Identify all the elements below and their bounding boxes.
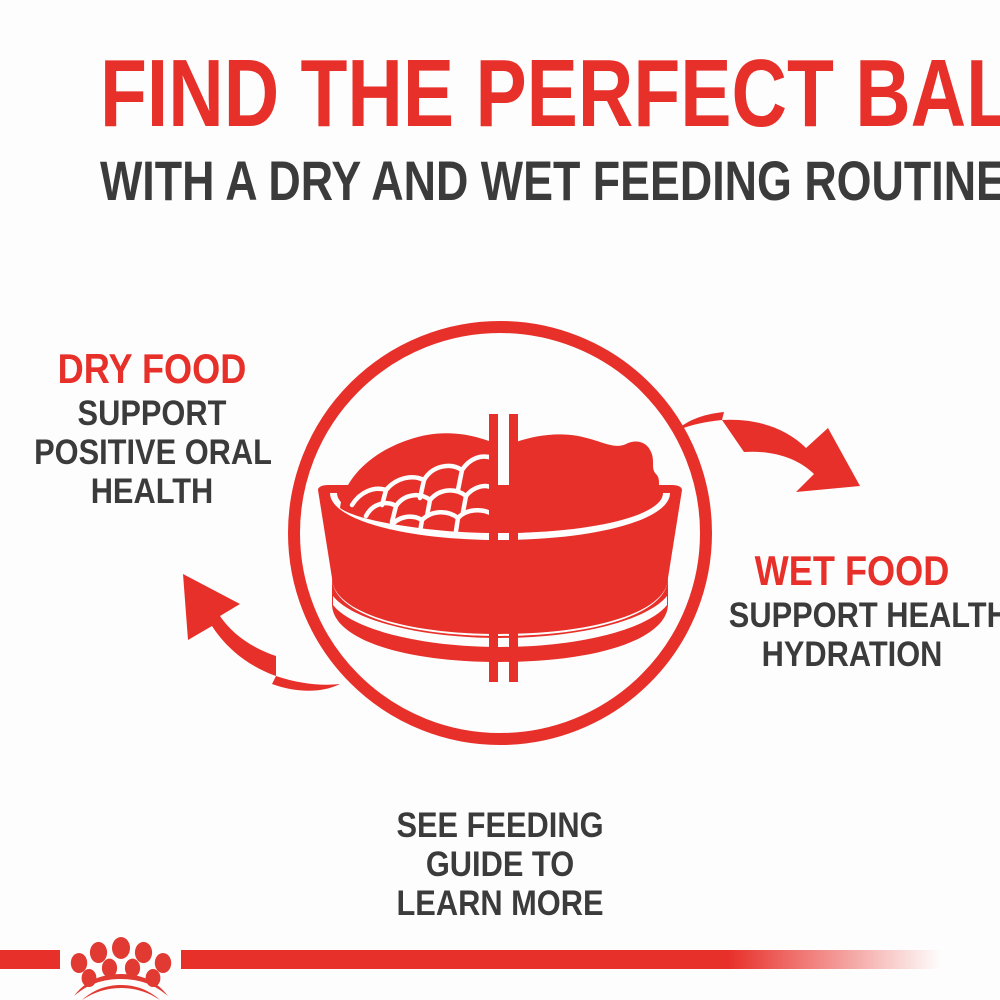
- wet-food-mound: [516, 434, 662, 533]
- wet-food-description: SUPPORT HEALTHY HYDRATION: [729, 596, 975, 674]
- poster-canvas: FIND THE PERFECT BALANCE WITH A DRY AND …: [0, 0, 1000, 1000]
- page-subtitle: WITH A DRY AND WET FEEDING ROUTINE: [100, 152, 900, 210]
- dry-food-label-block: DRY FOOD SUPPORT POSITIVE ORAL HEALTH: [18, 346, 286, 511]
- footer-rule-left: [0, 950, 60, 969]
- wet-food-label-block: WET FOOD SUPPORT HEALTHY HYDRATION: [712, 548, 992, 674]
- wet-food-line-1: SUPPORT HEALTHY: [729, 596, 975, 635]
- footer: [0, 918, 1000, 1000]
- wet-food-line-2: HYDRATION: [729, 635, 975, 674]
- bowl-vertical-divider: [489, 414, 518, 682]
- page-title: FIND THE PERFECT BALANCE: [100, 46, 900, 142]
- dry-kibble-mound: [340, 433, 492, 533]
- footer-rule-right: [181, 950, 941, 969]
- dry-food-line-1: SUPPORT: [34, 394, 270, 433]
- curved-arrow-up-left: [183, 574, 340, 691]
- dry-food-title: DRY FOOD: [37, 346, 267, 392]
- feeding-guide-caption: SEE FEEDING GUIDE TO LEARN MORE: [300, 806, 700, 923]
- caption-line-1: SEE FEEDING: [324, 806, 676, 845]
- pet-food-bowl: [318, 414, 682, 682]
- red-outline-circle: [294, 327, 706, 739]
- dry-food-description: SUPPORT POSITIVE ORAL HEALTH: [34, 394, 270, 511]
- wet-food-title: WET FOOD: [732, 548, 973, 594]
- dry-food-line-2: POSITIVE ORAL: [34, 433, 270, 472]
- caption-line-2: GUIDE TO: [324, 845, 676, 884]
- curved-arrow-down-right: [674, 412, 860, 492]
- dry-food-line-3: HEALTH: [34, 472, 270, 511]
- royal-canin-crown-icon: [62, 936, 180, 1000]
